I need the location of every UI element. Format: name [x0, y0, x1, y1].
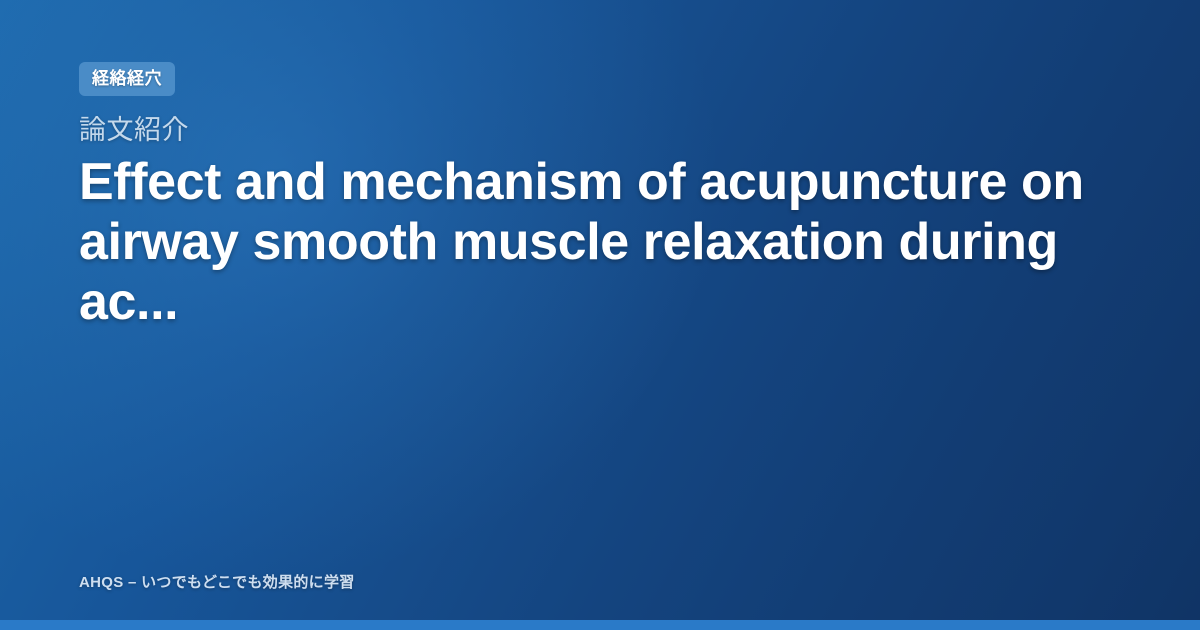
card-title: Effect and mechanism of acupuncture on a… [79, 152, 1129, 332]
share-card: 経絡経穴 論文紹介 Effect and mechanism of acupun… [0, 0, 1200, 630]
bottom-accent-bar [0, 620, 1200, 630]
card-subtitle: 論文紹介 [79, 116, 1130, 146]
card-content: 経絡経穴 論文紹介 Effect and mechanism of acupun… [79, 62, 1130, 332]
card-footer-tagline: AHQS – いつでもどこでも効果的に学習 [79, 571, 355, 592]
category-badge[interactable]: 経絡経穴 [79, 62, 175, 96]
